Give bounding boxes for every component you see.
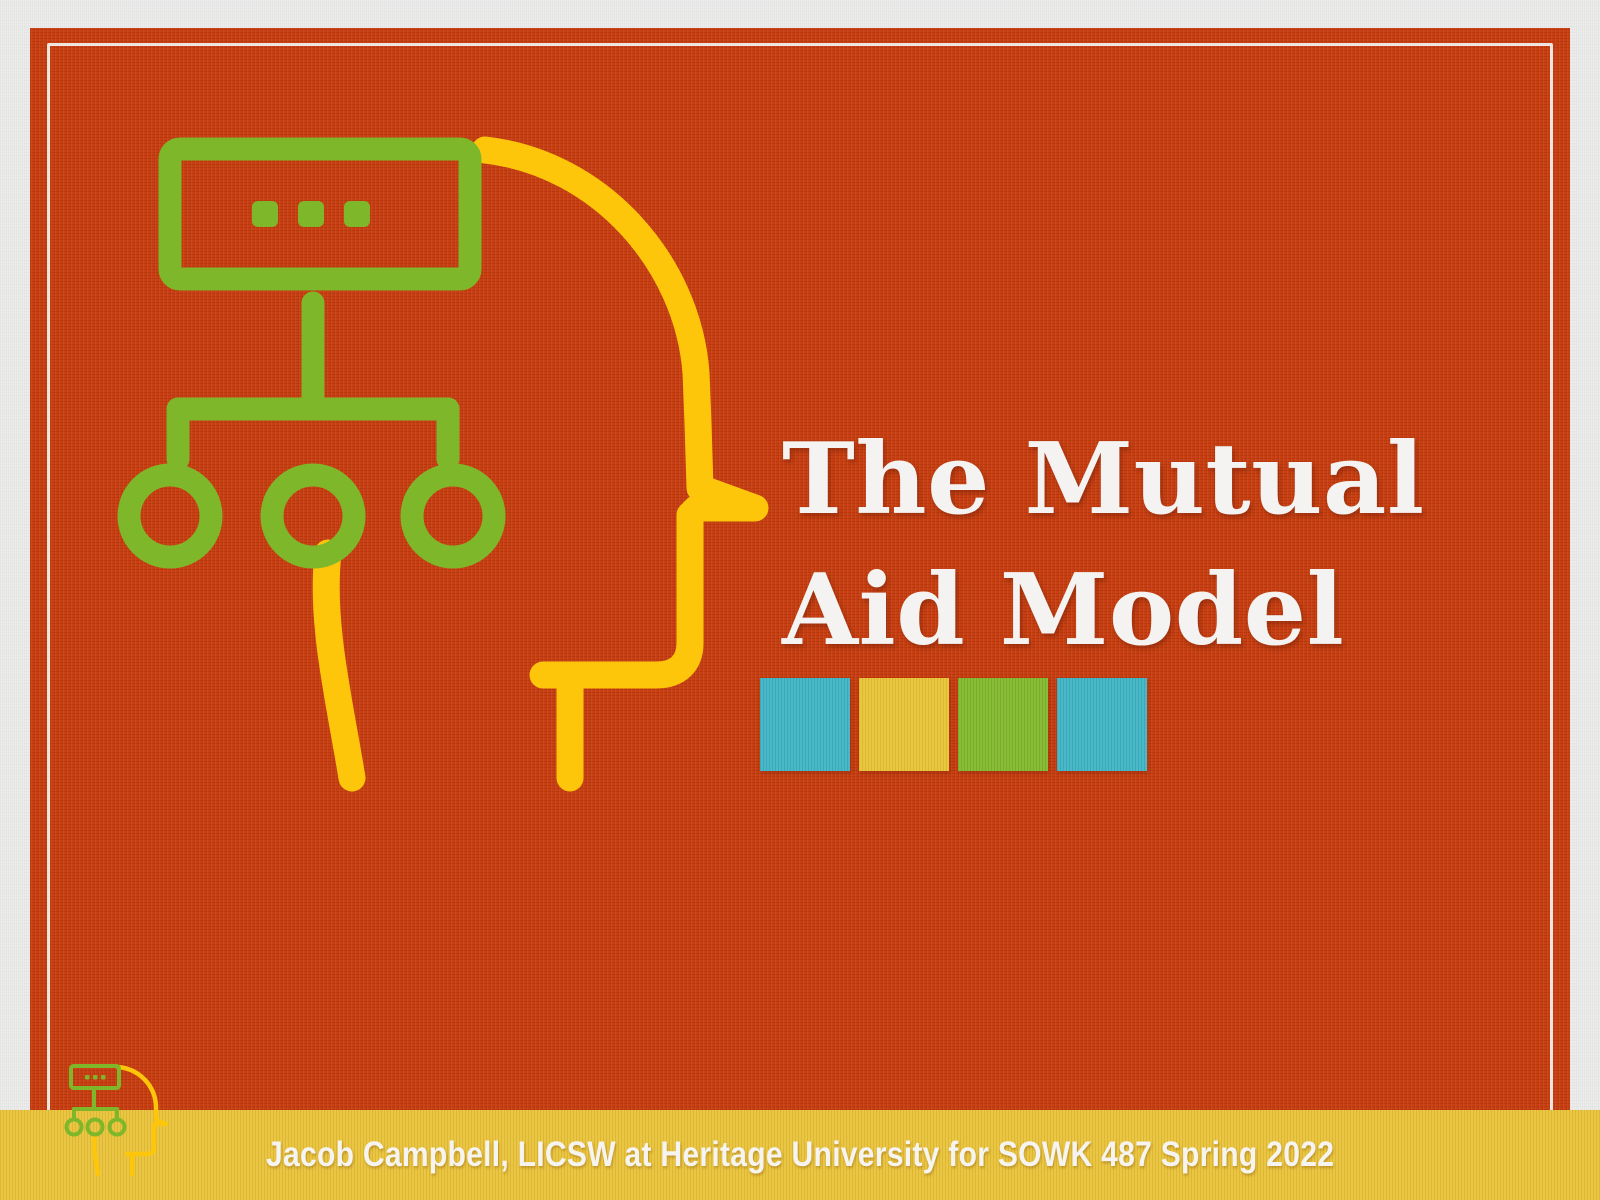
footer-bar: Jacob Campbell, LICSW at Heritage Univer… (0, 1110, 1600, 1200)
accent-swatch-row (760, 678, 1147, 771)
org-chart-dot-2 (298, 201, 324, 227)
org-chart-dot-3 (344, 201, 370, 227)
org-chart-icon (129, 149, 494, 557)
org-chart-node-1 (129, 475, 211, 557)
heritage-mini-logo (60, 1060, 190, 1182)
title-line-1: The Mutual (782, 414, 1522, 545)
title-line-2: Aid Model (782, 545, 1522, 676)
org-chart-node-2 (272, 475, 354, 557)
footer-attribution-text: Jacob Campbell, LICSW at Heritage Univer… (266, 1135, 1334, 1175)
mini-org-chart-icon (67, 1066, 125, 1135)
swatch-gold (859, 678, 949, 771)
swatch-teal-2 (1057, 678, 1147, 771)
presentation-slide: The Mutual Aid Model Jacob Campbell, LIC… (0, 0, 1600, 1200)
mini-head-profile-icon (94, 1067, 166, 1174)
head-profile-icon (326, 150, 755, 778)
footer-attribution: Jacob Campbell, LICSW at Heritage Univer… (0, 1135, 1600, 1175)
title-graphic (100, 123, 800, 813)
swatch-teal-1 (760, 678, 850, 771)
org-chart-node-3 (412, 475, 494, 557)
slide-card: The Mutual Aid Model (30, 28, 1570, 1143)
org-chart-dot-1 (252, 201, 278, 227)
swatch-green (958, 678, 1048, 771)
page-title: The Mutual Aid Model (782, 414, 1522, 677)
